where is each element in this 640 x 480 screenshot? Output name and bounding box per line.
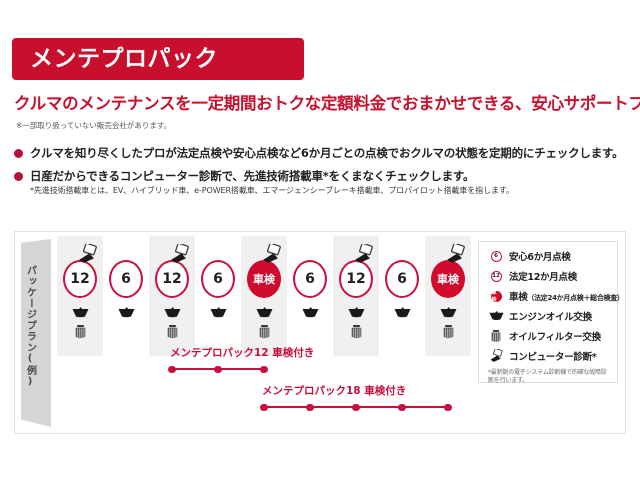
timeline-node[interactable]: 6	[195, 260, 241, 322]
inspection-circle-12[interactable]: 12	[155, 260, 189, 298]
oil-filter-change-icon	[75, 324, 86, 343]
bullet-dot-icon	[14, 172, 23, 181]
bullet-footnote: *先進技術搭載車とは、EV、ハイブリッド車、e-POWER搭載車、エマージェンシ…	[30, 185, 630, 196]
legend-footnote: *最新鋭の電子システム診断機で的確な故障診断を行います。	[488, 369, 610, 385]
engine-oil-change-icon	[394, 303, 411, 322]
headline-note: ※一部取り扱っていない販売会社があります。	[16, 120, 171, 131]
computer-diagnostic-icon	[261, 244, 283, 264]
computer-diagnostic-icon	[77, 244, 99, 264]
engine-oil-icon	[488, 311, 504, 320]
engine-oil-icon	[440, 307, 457, 318]
bullet-list: クルマを知り尽くしたプロが法定点検や安心点検など6か月ごとの点検でおクルマの状態…	[14, 146, 630, 196]
inspection-circle-6[interactable]: 6	[385, 260, 419, 298]
page-banner: メンテプロパック	[12, 38, 304, 80]
bullet-main-row: 日産だからできるコンピューター診断で、先進技術搭載車*をくまなくチェックします。	[14, 169, 630, 183]
service-icon-group	[118, 303, 135, 322]
side-label-text: パッケージプラン(例)	[15, 232, 45, 420]
engine-oil-icon	[118, 307, 135, 318]
oil-filter-change-icon	[351, 324, 362, 343]
legend-label: オイルフィルター交換	[509, 329, 601, 343]
timeline-node[interactable]: 12	[57, 260, 103, 343]
engine-oil-change-icon	[440, 303, 457, 322]
computer-diagnostic-icon	[489, 349, 504, 363]
engine-oil-change-icon	[118, 303, 135, 322]
legend-label: 法定12か月点検	[509, 269, 577, 283]
legend-label: 車検（法定24か月点検＋総合検査）	[509, 289, 624, 303]
computer-diagnostic-badge	[261, 244, 283, 264]
engine-oil-change-icon	[72, 303, 89, 322]
legend-circle-mark: 12	[491, 271, 502, 282]
oil-filter-icon	[488, 330, 504, 343]
computer-diagnostic-icon	[353, 244, 375, 264]
engine-oil-icon	[256, 307, 273, 318]
page-headline: クルマのメンテナンスを一定期間おトクな定額料金でおまかせできる、安心サポートプラ…	[14, 90, 628, 114]
oil-filter-icon	[443, 325, 454, 339]
inspection-circle-shaken[interactable]: 車検	[247, 260, 281, 298]
legend-item: オイルフィルター交換	[488, 329, 610, 343]
list-item: クルマを知り尽くしたプロが法定点検や安心点検など6か月ごとの点検でおクルマの状態…	[14, 146, 630, 160]
computer-diagnostic-badge	[353, 244, 375, 264]
oil-filter-icon	[351, 325, 362, 339]
oil-filter-icon	[491, 330, 501, 343]
circle-6-icon: 6	[488, 251, 504, 262]
plan-range-dot	[214, 366, 222, 374]
timeline-node[interactable]: 車検	[425, 260, 471, 343]
legend-item: 6安心6か月点検	[488, 249, 610, 263]
inspection-circle-6[interactable]: 6	[293, 260, 327, 298]
oil-filter-change-icon	[443, 324, 454, 343]
engine-oil-change-icon	[348, 303, 365, 322]
service-icon-group	[302, 303, 319, 322]
computer-diagnostic-icon	[445, 244, 467, 264]
plan-label: メンテプロパック18 車検付き	[262, 383, 406, 398]
service-icon-group	[210, 303, 227, 322]
inspection-circle-6[interactable]: 6	[201, 260, 235, 298]
oil-filter-icon	[75, 325, 86, 339]
legend-item: 12法定12か月点検	[488, 269, 610, 283]
computer-diagnostic-icon	[169, 244, 191, 264]
legend-item: コンピューター診断*	[488, 349, 610, 363]
legend-label: 安心6か月点検	[509, 249, 571, 263]
timeline-track: 126126車検6126車検メンテプロパック12 車検付きメンテプロパック18 …	[57, 236, 471, 432]
legend-item: 車検車検（法定24か月点検＋総合検査）	[488, 289, 610, 303]
engine-oil-icon	[394, 307, 411, 318]
computer-diagnostic-icon	[488, 349, 504, 363]
legend-label: コンピューター診断*	[509, 349, 596, 363]
oil-filter-change-icon	[167, 324, 178, 343]
timeline-node[interactable]: 6	[287, 260, 333, 322]
service-icon-group	[72, 303, 89, 343]
bullet-text: クルマを知り尽くしたプロが法定点検や安心点検など6か月ごとの点検でおクルマの状態…	[30, 146, 623, 160]
engine-oil-change-icon	[210, 303, 227, 322]
service-icon-group	[164, 303, 181, 343]
inspection-circle-12[interactable]: 12	[63, 260, 97, 298]
banner-title: メンテプロパック	[30, 48, 218, 71]
service-icon-group	[394, 303, 411, 322]
service-icon-group	[256, 303, 273, 343]
legend-label: エンジンオイル交換	[509, 309, 592, 323]
service-icon-group	[440, 303, 457, 343]
computer-diagnostic-badge	[169, 244, 191, 264]
engine-oil-icon	[164, 307, 181, 318]
inspection-circle-shaken[interactable]: 車検	[431, 260, 465, 298]
plan-range-dot	[352, 404, 360, 412]
inspection-circle-12[interactable]: 12	[339, 260, 373, 298]
timeline-node[interactable]: 6	[379, 260, 425, 322]
engine-oil-icon	[302, 307, 319, 318]
oil-filter-icon	[167, 325, 178, 339]
engine-oil-icon	[489, 311, 504, 320]
timeline-node[interactable]: 12	[149, 260, 195, 343]
plan-range-dot	[398, 404, 406, 412]
engine-oil-change-icon	[256, 303, 273, 322]
plan-range-dot	[306, 404, 314, 412]
oil-filter-change-icon	[259, 324, 270, 343]
plan-label: メンテプロパック12 車検付き	[170, 345, 314, 360]
engine-oil-icon	[72, 307, 89, 318]
plan-range-dot	[168, 366, 176, 374]
plan-range-dot	[260, 404, 268, 412]
legend-label-sub: （法定24か月点検＋総合検査）	[527, 294, 623, 302]
circle-12-icon: 12	[488, 271, 504, 282]
engine-oil-change-icon	[302, 303, 319, 322]
bullet-dot-icon	[14, 149, 23, 158]
service-icon-group	[348, 303, 365, 343]
computer-diagnostic-badge	[77, 244, 99, 264]
legend-circle-mark: 車検	[491, 291, 502, 302]
legend-item: エンジンオイル交換	[488, 309, 610, 323]
timeline-node[interactable]: 12	[333, 260, 379, 343]
timeline-node[interactable]: 車検	[241, 260, 287, 343]
engine-oil-icon	[210, 307, 227, 318]
engine-oil-change-icon	[164, 303, 181, 322]
plan-range-dot	[260, 366, 268, 374]
legend-circle-mark: 6	[491, 251, 502, 262]
circle-shaken-icon: 車検	[488, 291, 504, 302]
timeline-node[interactable]: 6	[103, 260, 149, 322]
inspection-circle-6[interactable]: 6	[109, 260, 143, 298]
plan-range-dot	[444, 404, 452, 412]
engine-oil-icon	[348, 307, 365, 318]
oil-filter-icon	[259, 325, 270, 339]
list-item: 日産だからできるコンピューター診断で、先進技術搭載車*をくまなくチェックします。…	[14, 169, 630, 195]
computer-diagnostic-badge	[445, 244, 467, 264]
legend-panel: 6安心6か月点検12法定12か月点検車検車検（法定24か月点検＋総合検査）エンジ…	[478, 241, 618, 383]
package-plan-diagram: パッケージプラン(例) 126126車検6126車検メンテプロパック12 車検付…	[14, 231, 626, 434]
bullet-text: 日産だからできるコンピューター診断で、先進技術搭載車*をくまなくチェックします。	[30, 169, 474, 183]
